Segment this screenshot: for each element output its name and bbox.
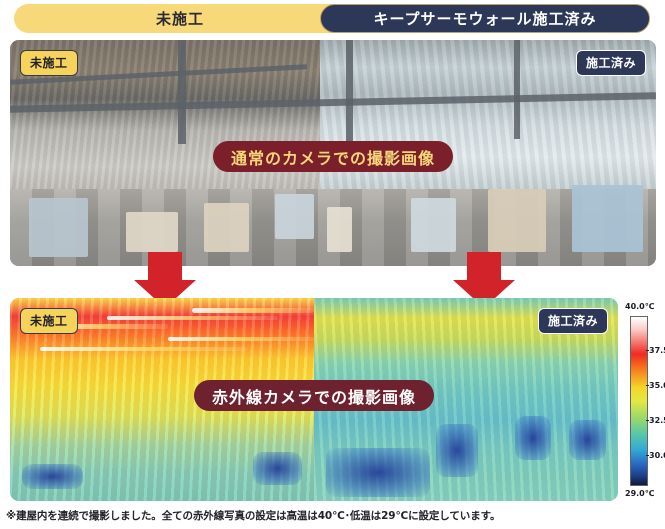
photo-badge-untreated: 未施工: [20, 50, 78, 76]
photo-object: [126, 212, 178, 253]
photo-object: [411, 198, 456, 252]
thermal-cold-blob: [569, 420, 605, 461]
photo-object: [275, 194, 314, 239]
photo-caption: 通常のカメラでの撮影画像: [213, 141, 453, 172]
colorbar-max-label: 40.0℃: [625, 302, 665, 311]
photo-object: [572, 185, 643, 253]
photo-object: [204, 203, 249, 253]
colorbar-tick-37-5: 37.5: [649, 346, 665, 355]
thermal-cold-blob: [326, 448, 429, 497]
header-pill-untreated: 未施工: [14, 4, 346, 33]
thermal-badge-treated: 施工済み: [538, 308, 608, 334]
thermal-photo-panel: 未施工 施工済み 赤外線カメラでの撮影画像: [10, 298, 618, 501]
photo-object: [327, 207, 353, 252]
thermal-hot-streak: [192, 308, 314, 313]
infographic-root: 未施工 キープサーモウォール施工済み 未施工 施工済み 通常のカメラでの撮影画像: [0, 0, 665, 529]
colorbar-tick-30-0: 30.0: [649, 451, 665, 460]
footer-note: ※建屋内を連続で撮影しました。全ての赤外線写真の設定は高温は40℃･低温は29℃…: [6, 508, 662, 523]
colorbar-gradient: [630, 316, 648, 486]
photo-column: [514, 40, 520, 139]
thermal-hot-streak: [168, 337, 314, 341]
photo-object: [29, 198, 87, 257]
thermal-cold-blob: [515, 416, 551, 461]
thermal-hot-streak: [107, 316, 277, 320]
photo-column: [178, 40, 186, 144]
thermal-cold-blob: [22, 464, 83, 488]
thermal-caption: 赤外線カメラでの撮影画像: [194, 380, 434, 411]
temperature-colorbar: 40.0℃ 37.5 35.0 32.5 30.0 29.0℃: [625, 296, 665, 506]
colorbar-tick-32-5: 32.5: [649, 416, 665, 425]
arrow-stem: [148, 252, 182, 280]
photo-object: [488, 189, 546, 252]
header-row: 未施工 キープサーモウォール施工済み: [0, 4, 665, 34]
header-pill-treated: キープサーモウォール施工済み: [320, 4, 650, 33]
arrow-stem: [467, 252, 501, 280]
colorbar-min-label: 29.0℃: [625, 489, 665, 498]
normal-photo-panel: 未施工 施工済み 通常のカメラでの撮影画像: [10, 40, 656, 266]
thermal-cold-blob: [436, 424, 479, 477]
thermal-cold-blob: [253, 452, 302, 484]
photo-column: [346, 40, 353, 158]
colorbar-tick-35-0: 35.0: [649, 381, 665, 390]
thermal-badge-untreated: 未施工: [20, 308, 78, 334]
thermal-hot-streak: [40, 347, 247, 351]
photo-badge-treated: 施工済み: [576, 50, 646, 76]
